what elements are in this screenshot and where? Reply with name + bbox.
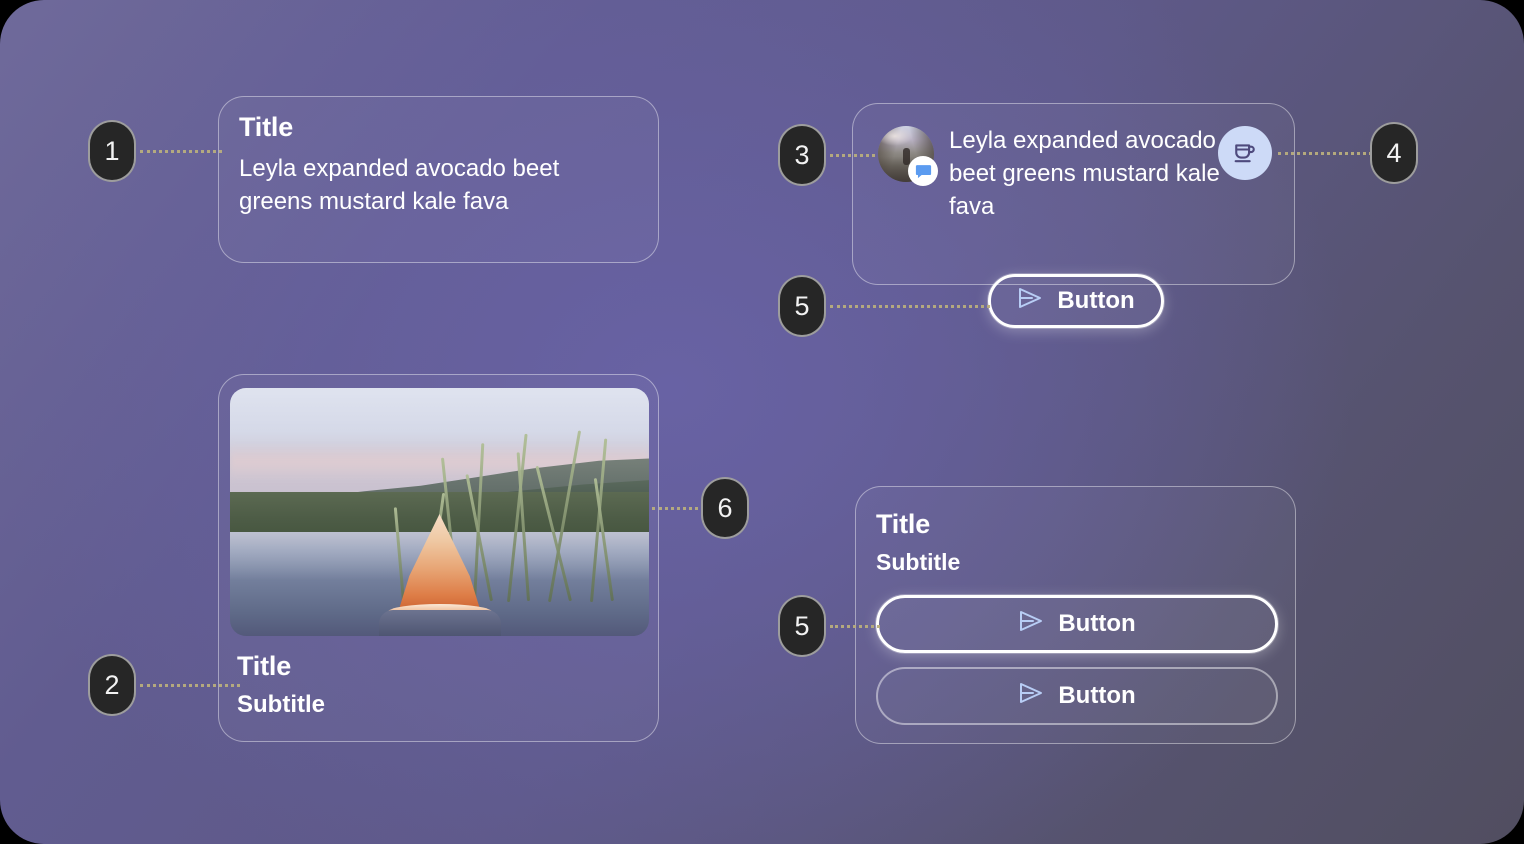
card-media[interactable]: Title Subtitle	[218, 374, 659, 742]
send-icon	[1018, 682, 1044, 711]
coffee-cup-icon	[1218, 126, 1272, 180]
card-actions[interactable]: Title Subtitle Button Button	[855, 486, 1296, 744]
send-icon	[1018, 610, 1044, 639]
annotation-marker-5a[interactable]: 5	[778, 275, 826, 337]
card1-body: Leyla expanded avocado beet greens musta…	[239, 152, 639, 218]
card-actions-button-2[interactable]: Button	[876, 667, 1278, 725]
connector-line-2	[140, 684, 240, 687]
card-title-body[interactable]: Title Leyla expanded avocado beet greens…	[218, 96, 659, 263]
card-actions-button-2-label: Button	[1058, 682, 1135, 710]
coffee-cup-icon-button[interactable]	[1218, 126, 1272, 180]
card-actions-subtitle: Subtitle	[876, 549, 960, 576]
annotation-marker-5b[interactable]: 5	[778, 595, 826, 657]
annotation-marker-6[interactable]: 6	[701, 477, 749, 539]
card-actions-button-1[interactable]: Button	[876, 595, 1278, 653]
avatar[interactable]	[878, 126, 934, 182]
card-media-subtitle: Subtitle	[237, 691, 325, 719]
connector-line-3	[830, 154, 875, 157]
card-message[interactable]: Leyla expanded avocado beet greens musta…	[852, 103, 1295, 285]
annotation-marker-1[interactable]: 1	[88, 120, 136, 182]
connector-line-1	[140, 150, 222, 153]
card-message-text: Leyla expanded avocado beet greens musta…	[949, 124, 1259, 223]
card-media-title: Title	[237, 651, 291, 682]
connector-line-5a	[830, 305, 990, 308]
connector-line-5b	[830, 625, 880, 628]
card-message-button[interactable]: Button	[988, 274, 1164, 328]
chat-bubble-icon	[908, 156, 938, 186]
card1-title: Title	[239, 112, 293, 143]
card-media-image	[230, 388, 649, 636]
connector-line-6	[652, 507, 704, 510]
connector-line-4	[1278, 152, 1372, 155]
annotation-marker-3[interactable]: 3	[778, 124, 826, 186]
card-actions-title: Title	[876, 509, 930, 540]
card-actions-button-1-label: Button	[1058, 610, 1135, 638]
send-icon	[1017, 287, 1043, 316]
annotation-marker-2[interactable]: 2	[88, 654, 136, 716]
annotated-ui-canvas: Title Leyla expanded avocado beet greens…	[0, 0, 1524, 844]
card-message-button-label: Button	[1057, 287, 1134, 315]
annotation-marker-4[interactable]: 4	[1370, 122, 1418, 184]
